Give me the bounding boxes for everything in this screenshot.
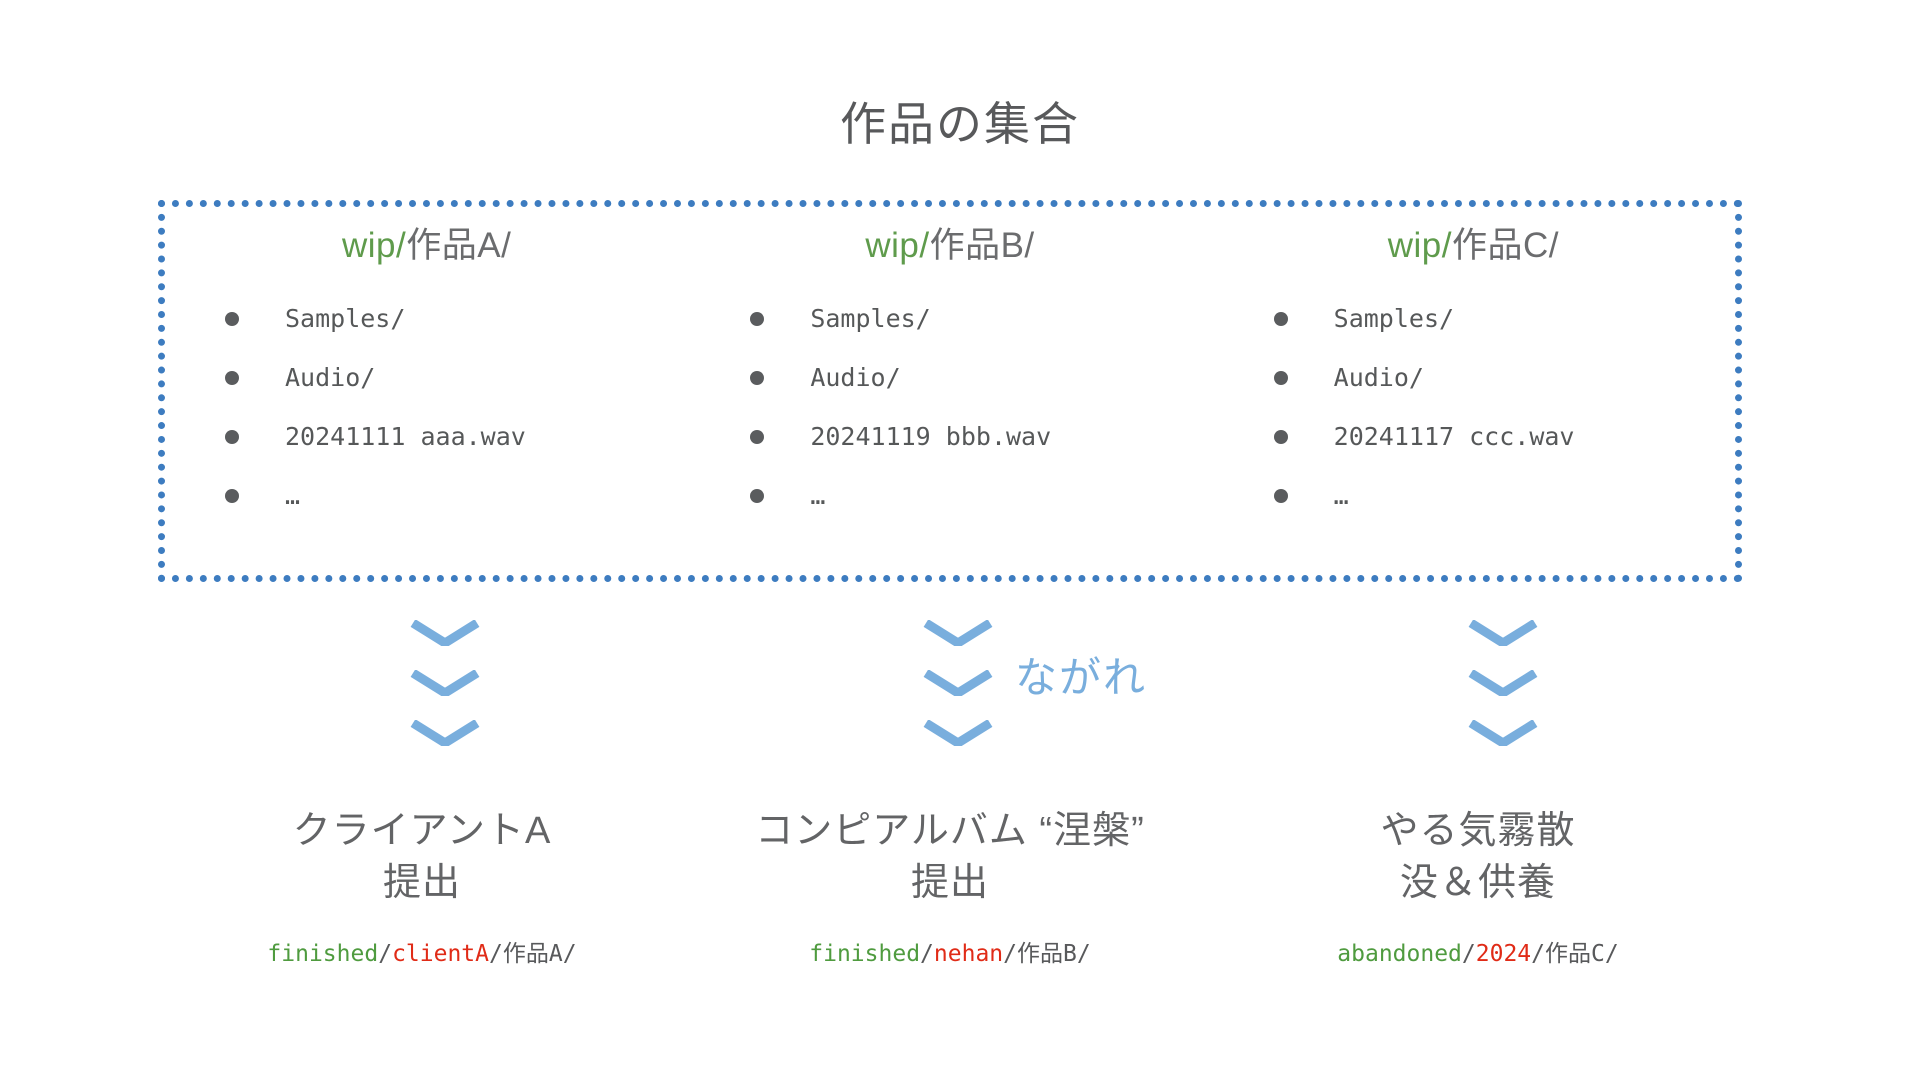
list-item-label: 20241111 aaa.wav — [285, 422, 526, 451]
outcome-a-path-bucket: clientA — [392, 941, 489, 967]
outcome-c-path-sep2: / — [1531, 941, 1545, 967]
list-item: Samples/ — [750, 289, 1211, 348]
outcome-a-title-line2: 提出 — [158, 857, 686, 909]
chevron-down-icon — [410, 720, 480, 746]
outcome-a-title-line1: クライアントA — [158, 805, 686, 857]
chevron-stack-a — [410, 620, 480, 770]
outcome-c-path: abandoned/2024/作品C/ — [1214, 934, 1742, 968]
outcome-b-path-root: finished — [809, 941, 920, 967]
outcome-c: やる気霧散 没＆供養 abandoned/2024/作品C/ — [1214, 805, 1742, 968]
bullet-icon — [750, 312, 764, 326]
list-item-label: Samples/ — [810, 304, 930, 333]
list-item-label: 20241119 bbb.wav — [810, 422, 1051, 451]
outcome-a-path-sep2: / — [489, 941, 503, 967]
chevron-down-icon — [1468, 720, 1538, 746]
list-item-label: 20241117 ccc.wav — [1334, 422, 1575, 451]
outcome-c-path-sep1: / — [1462, 941, 1476, 967]
outcome-b-title: コンピアルバム “涅槃” 提出 — [686, 805, 1214, 910]
wip-column-c-title-prefix: wip/ — [1388, 226, 1452, 265]
outcome-c-title: やる気霧散 没＆供養 — [1214, 805, 1742, 910]
list-item: Audio/ — [1274, 348, 1735, 407]
wip-column-b: wip/作品B/ Samples/ Audio/ 20241119 bbb.wa… — [688, 207, 1211, 525]
chevron-down-icon — [1468, 670, 1538, 696]
bullet-icon — [1274, 430, 1288, 444]
chevron-down-icon — [1468, 620, 1538, 646]
bullet-icon — [750, 371, 764, 385]
wip-column-a-list: Samples/ Audio/ 20241111 aaa.wav … — [165, 289, 688, 525]
list-item: Audio/ — [750, 348, 1211, 407]
bullet-icon — [1274, 489, 1288, 503]
wip-column-a-title-name: 作品A/ — [406, 226, 511, 265]
bullet-icon — [225, 489, 239, 503]
wip-column-c: wip/作品C/ Samples/ Audio/ 20241117 ccc.wa… — [1212, 207, 1735, 525]
list-item-label: Samples/ — [285, 304, 405, 333]
chevron-down-icon — [410, 670, 480, 696]
bullet-icon — [225, 312, 239, 326]
wip-columns: wip/作品A/ Samples/ Audio/ 20241111 aaa.wa… — [165, 207, 1735, 575]
wip-group-box: wip/作品A/ Samples/ Audio/ 20241111 aaa.wa… — [158, 200, 1742, 582]
flow-label: ながれ — [1015, 655, 1147, 701]
outcome-b: コンピアルバム “涅槃” 提出 finished/nehan/作品B/ — [686, 805, 1214, 968]
wip-column-a-title-prefix: wip/ — [342, 226, 406, 265]
outcome-c-title-line1: やる気霧散 — [1214, 805, 1742, 857]
wip-column-b-title: wip/作品B/ — [688, 225, 1211, 267]
bullet-icon — [225, 371, 239, 385]
outcome-a-path-sep1: / — [378, 941, 392, 967]
outcome-c-title-line2: 没＆供養 — [1214, 857, 1742, 909]
outcome-a: クライアントA 提出 finished/clientA/作品A/ — [158, 805, 686, 968]
chevron-down-icon — [410, 620, 480, 646]
wip-column-a-title: wip/作品A/ — [165, 225, 688, 267]
outcome-b-path-bucket: nehan — [934, 941, 1003, 967]
bullet-icon — [750, 430, 764, 444]
outcome-b-title-line1: コンピアルバム “涅槃” — [686, 805, 1214, 857]
wip-column-c-title-name: 作品C/ — [1452, 226, 1559, 265]
outcome-b-path: finished/nehan/作品B/ — [686, 934, 1214, 968]
list-item-label: Audio/ — [810, 363, 900, 392]
wip-column-a: wip/作品A/ Samples/ Audio/ 20241111 aaa.wa… — [165, 207, 688, 525]
outcome-b-path-work: 作品B/ — [1017, 941, 1091, 967]
outcomes-row: クライアントA 提出 finished/clientA/作品A/ コンピアルバム… — [158, 805, 1742, 968]
wip-column-c-list: Samples/ Audio/ 20241117 ccc.wav … — [1212, 289, 1735, 525]
list-item: Audio/ — [225, 348, 688, 407]
outcome-b-path-sep1: / — [920, 941, 934, 967]
outcome-b-path-sep2: / — [1003, 941, 1017, 967]
page-title: 作品の集合 — [0, 98, 1920, 151]
list-item: … — [225, 466, 688, 525]
list-item-label: … — [1334, 481, 1349, 510]
list-item-label: … — [810, 481, 825, 510]
chevron-down-icon — [923, 620, 993, 646]
wip-column-b-title-prefix: wip/ — [865, 226, 929, 265]
outcome-b-title-line2: 提出 — [686, 857, 1214, 909]
flow-area — [158, 620, 1742, 770]
bullet-icon — [1274, 312, 1288, 326]
list-item: Samples/ — [225, 289, 688, 348]
wip-column-b-list: Samples/ Audio/ 20241119 bbb.wav … — [688, 289, 1211, 525]
list-item: 20241117 ccc.wav — [1274, 407, 1735, 466]
outcome-c-path-bucket: 2024 — [1476, 941, 1531, 967]
bullet-icon — [225, 430, 239, 444]
list-item: Samples/ — [1274, 289, 1735, 348]
list-item: … — [1274, 466, 1735, 525]
bullet-icon — [1274, 371, 1288, 385]
chevron-down-icon — [923, 720, 993, 746]
chevron-stack-c — [1468, 620, 1538, 770]
outcome-a-path: finished/clientA/作品A/ — [158, 934, 686, 968]
outcome-c-path-work: 作品C/ — [1545, 941, 1619, 967]
list-item: 20241119 bbb.wav — [750, 407, 1211, 466]
chevron-down-icon — [923, 670, 993, 696]
list-item: 20241111 aaa.wav — [225, 407, 688, 466]
outcome-c-path-root: abandoned — [1337, 941, 1462, 967]
wip-column-c-title: wip/作品C/ — [1212, 225, 1735, 267]
list-item-label: Audio/ — [285, 363, 375, 392]
list-item-label: Samples/ — [1334, 304, 1454, 333]
list-item-label: … — [285, 481, 300, 510]
wip-column-b-title-name: 作品B/ — [930, 226, 1035, 265]
outcome-a-title: クライアントA 提出 — [158, 805, 686, 910]
list-item: … — [750, 466, 1211, 525]
outcome-a-path-work: 作品A/ — [503, 941, 577, 967]
chevron-stack-b — [923, 620, 993, 770]
outcome-a-path-root: finished — [267, 941, 378, 967]
bullet-icon — [750, 489, 764, 503]
list-item-label: Audio/ — [1334, 363, 1424, 392]
